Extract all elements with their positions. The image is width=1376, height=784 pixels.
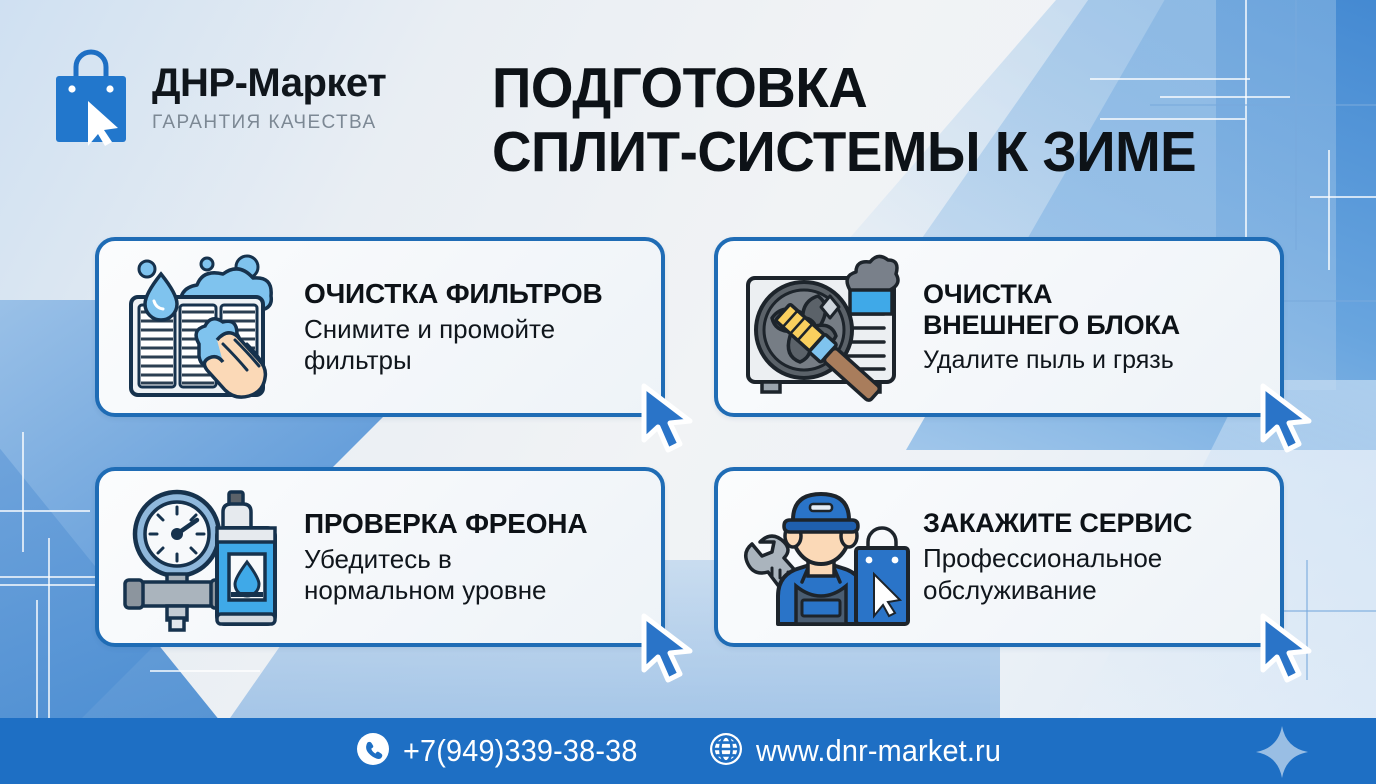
brand-tagline: ГАРАНТИЯ КАЧЕСТВА	[152, 112, 386, 134]
page-title: ПОДГОТОВКА СПЛИТ-СИСТЕМЫ К ЗИМЕ	[492, 56, 1298, 185]
brand-logo[interactable]: ДНР-Маркет ГАРАНТИЯ КАЧЕСТВА	[48, 46, 386, 146]
title-line-2: СПЛИТ-СИСТЕМЫ К ЗИМЕ	[492, 120, 1298, 184]
grid-line-horizontal	[150, 670, 260, 672]
brand-name: ДНР-Маркет	[152, 63, 386, 103]
sparkle-icon	[1256, 726, 1308, 778]
phone-number: +7(949)339-38-38	[403, 733, 638, 769]
card-filters[interactable]: ОЧИСТКА ФИЛЬТРОВ Снимите и промойте филь…	[95, 237, 665, 417]
website-url: www.dnr-market.ru	[756, 733, 1001, 769]
footer-phone[interactable]: +7(949)339-38-38	[356, 732, 655, 771]
card-title: ПРОВЕРКА ФРЕОНА	[304, 508, 587, 539]
card-description: Удалите пыль и грязь	[923, 345, 1180, 375]
grid-line-horizontal	[1280, 610, 1376, 612]
outdoor-unit-brush-icon	[738, 252, 913, 402]
card-service[interactable]: ЗАКАЖИТЕ СЕРВИС Профессиональное обслужи…	[714, 467, 1284, 647]
air-filter-cleaning-icon	[119, 252, 294, 402]
grid-line-horizontal	[0, 510, 90, 512]
card-description: Снимите и промойте фильтры	[304, 314, 602, 376]
card-text: ПРОВЕРКА ФРЕОНА Убедитесь в нормальном у…	[304, 508, 587, 607]
card-text: ОЧИСТКА ФИЛЬТРОВ Снимите и промойте филь…	[304, 278, 602, 377]
title-line-1: ПОДГОТОВКА	[492, 56, 1298, 120]
card-text: ЗАКАЖИТЕ СЕРВИС Профессиональное обслужи…	[923, 508, 1192, 606]
grid-line-vertical	[22, 432, 24, 552]
card-title: ОЧИСТКА ФИЛЬТРОВ	[304, 278, 602, 309]
technician-shopping-bag-icon	[738, 482, 913, 632]
card-freon[interactable]: ПРОВЕРКА ФРЕОНА Убедитесь в нормальном у…	[95, 467, 665, 647]
globe-icon	[709, 732, 743, 771]
header: ДНР-Маркет ГАРАНТИЯ КАЧЕСТВА ПОДГОТОВКА …	[0, 0, 1376, 215]
card-description: Убедитесь в нормальном уровне	[304, 544, 587, 606]
pressure-gauge-refrigerant-icon	[119, 482, 294, 632]
shopping-bag-cursor-icon	[48, 46, 134, 146]
phone-icon	[356, 732, 390, 771]
footer-contact-bar: +7(949)339-38-38 www.dnr-market.ru	[0, 718, 1376, 784]
card-outdoor-unit[interactable]: ОЧИСТКА ВНЕШНЕГО БЛОКА Удалите пыль и гр…	[714, 237, 1284, 417]
grid-line-vertical	[1306, 560, 1308, 680]
footer-website[interactable]: www.dnr-market.ru	[709, 732, 1020, 771]
card-title: ЗАКАЖИТЕ СЕРВИС	[923, 508, 1192, 538]
card-text: ОЧИСТКА ВНЕШНЕГО БЛОКА Удалите пыль и гр…	[923, 279, 1180, 374]
card-description: Профессиональное обслуживание	[923, 543, 1192, 605]
infographic-poster: ДНР-Маркет ГАРАНТИЯ КАЧЕСТВА ПОДГОТОВКА …	[0, 0, 1376, 784]
card-title: ОЧИСТКА ВНЕШНЕГО БЛОКА	[923, 279, 1180, 339]
